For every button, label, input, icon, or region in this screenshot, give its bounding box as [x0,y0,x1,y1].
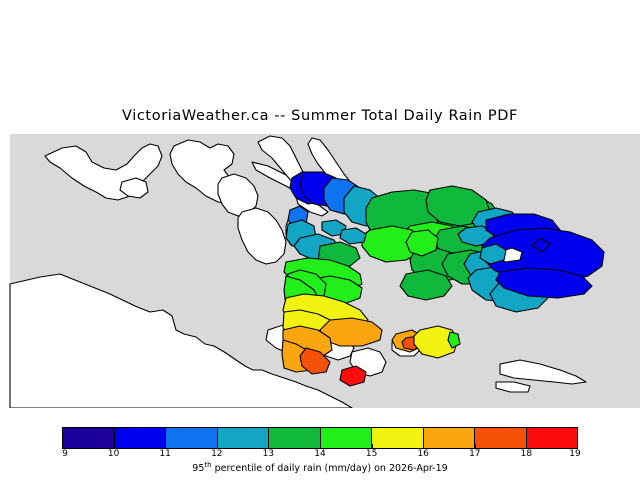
colorbar-segment-18-19[interactable] [527,428,578,448]
colorbar-tick-label-18: 18 [521,449,532,459]
page-title: VictoriaWeather.ca -- Summer Total Daily… [0,108,640,124]
colorbar-segment-14-15[interactable] [321,428,373,448]
colorbar-caption: 95th percentile of daily rain (mm/day) o… [0,461,640,474]
colorbar-segment-13-14[interactable] [269,428,321,448]
caption-rest: percentile of daily rain (mm/day) on 202… [212,463,448,474]
colorbar-segment-11-12[interactable] [166,428,218,448]
caption-prefix: 95 [192,463,204,474]
colorbar-tick-label-14: 14 [314,449,325,459]
colorbar-tick-label-15: 15 [366,449,377,459]
colorbar-segment-10-11[interactable] [115,428,167,448]
caption-superscript: th [204,461,211,469]
colorbar-segment-17-18[interactable] [475,428,527,448]
colorbar-tick-label-11: 11 [159,449,170,459]
colorbar-segment-12-13[interactable] [218,428,270,448]
colorbar-tick-label-13: 13 [263,449,274,459]
colorbar-tick-label-19: 19 [569,449,580,459]
colorbar-tick-label-17: 17 [469,449,480,459]
weather-map-page: VictoriaWeather.ca -- Summer Total Daily… [0,0,640,480]
colorbar-tick-label-9: 9 [62,449,68,459]
colorbar-segment-16-17[interactable] [424,428,476,448]
colorbar-tick-label-10: 10 [108,449,119,459]
colorbar-tick-label-12: 12 [211,449,222,459]
map-panel[interactable] [0,134,640,408]
colorbar-segment-9-10[interactable] [63,428,115,448]
colorbar-segment-15-16[interactable] [372,428,424,448]
colorbar-tick-label-16: 16 [417,449,428,459]
map-svg[interactable] [0,134,640,408]
